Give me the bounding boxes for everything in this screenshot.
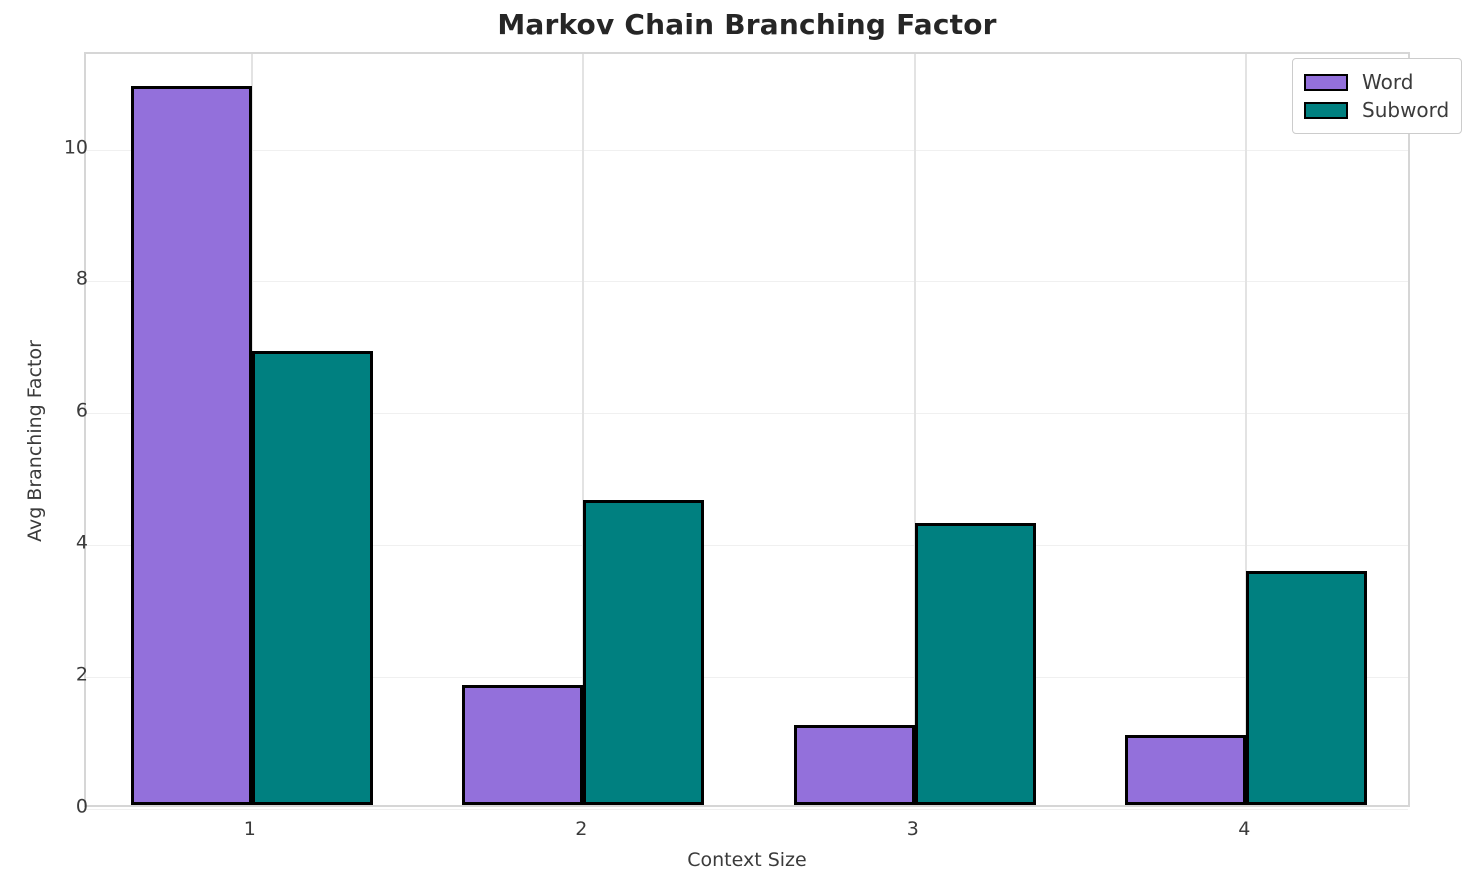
x-tick-label-2: 3 bbox=[907, 818, 919, 840]
chart-legend: WordSubword bbox=[1292, 58, 1462, 134]
plot-area bbox=[84, 52, 1410, 807]
gridline-y-4 bbox=[86, 281, 1408, 282]
bar-word-context-2 bbox=[462, 685, 583, 805]
bar-subword-context-2 bbox=[583, 500, 704, 805]
y-axis-label: Avg Branching Factor bbox=[24, 61, 46, 821]
x-axis-label: Context Size bbox=[84, 849, 1410, 871]
gridline-y-0 bbox=[86, 809, 1408, 810]
y-tick-label-2: 4 bbox=[76, 534, 88, 553]
bar-word-context-1 bbox=[131, 86, 252, 805]
y-tick-label-1: 2 bbox=[76, 666, 88, 685]
y-tick-label-3: 6 bbox=[76, 402, 88, 421]
bar-subword-context-1 bbox=[252, 351, 373, 805]
y-tick-label-5: 10 bbox=[64, 138, 88, 157]
legend-swatch-word bbox=[1304, 74, 1348, 91]
y-tick-label-4: 8 bbox=[76, 270, 88, 289]
x-tick-label-1: 2 bbox=[575, 818, 587, 840]
bar-subword-context-3 bbox=[915, 523, 1036, 805]
legend-label-word: Word bbox=[1362, 72, 1413, 92]
legend-item-subword[interactable]: Subword bbox=[1304, 96, 1449, 124]
y-tick-label-0: 0 bbox=[76, 798, 88, 817]
bar-subword-context-4 bbox=[1246, 571, 1367, 805]
legend-item-word[interactable]: Word bbox=[1304, 68, 1449, 96]
chart-title: Markov Chain Branching Factor bbox=[84, 8, 1410, 41]
x-tick-label-0: 1 bbox=[244, 818, 256, 840]
bar-word-context-3 bbox=[794, 725, 915, 805]
x-tick-label-3: 4 bbox=[1238, 818, 1250, 840]
legend-swatch-subword bbox=[1304, 102, 1348, 119]
bar-word-context-4 bbox=[1125, 735, 1246, 805]
legend-label-subword: Subword bbox=[1362, 100, 1449, 120]
chart-figure: Markov Chain Branching Factor 0246810 Av… bbox=[0, 0, 1484, 885]
gridline-y-5 bbox=[86, 150, 1408, 151]
